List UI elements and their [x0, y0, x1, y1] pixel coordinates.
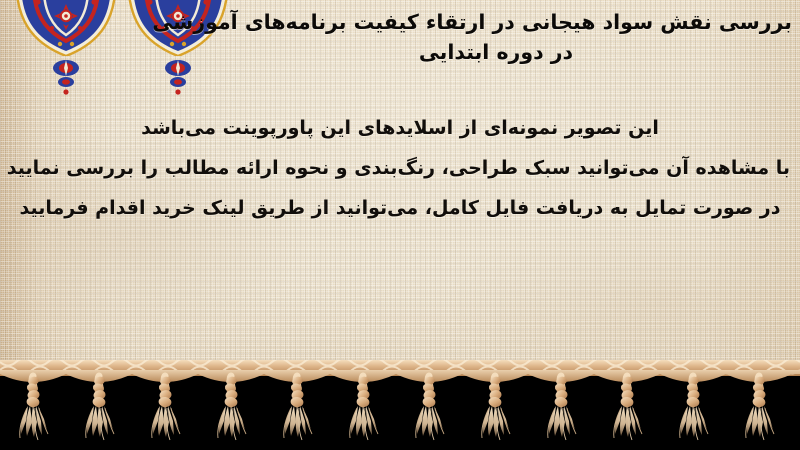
slide-body-line-2: با مشاهده آن می‌توانید سبک طراحی، رنگ‌بن… [10, 148, 790, 188]
slide-title: بررسی نقش سواد هیجانی در ارتقاء کیفیت بر… [200, 7, 792, 67]
slide-title-line-1: بررسی نقش سواد هیجانی در ارتقاء کیفیت بر… [200, 7, 792, 37]
tassel-row [20, 375, 774, 440]
slide-body: این تصویر نمونه‌ای از اسلایدهای این پاور… [10, 108, 790, 228]
slide-body-line-1: این تصویر نمونه‌ای از اسلایدهای این پاور… [10, 108, 790, 148]
slide-canvas: بررسی نقش سواد هیجانی در ارتقاء کیفیت بر… [0, 0, 800, 450]
tassel-fringe [0, 360, 800, 450]
braided-cord-band [0, 360, 800, 382]
slide-body-line-3: در صورت تمایل به دریافت فایل کامل، می‌تو… [10, 188, 790, 228]
slide-title-line-2: در دوره ابتدایی [200, 37, 792, 67]
